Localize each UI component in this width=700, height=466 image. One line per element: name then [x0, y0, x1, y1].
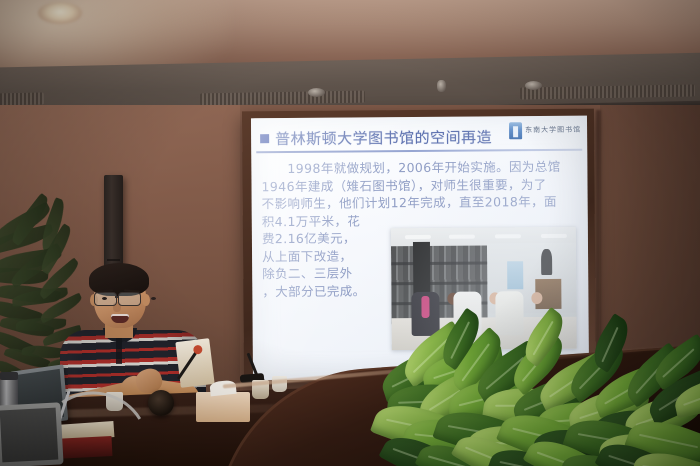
- southeast-university-library-logo: 东南大学图书馆: [509, 122, 581, 140]
- ceiling-speaker-icon: [308, 88, 325, 97]
- slide-body-line: 不影响师生，他们计划12年完成，直至2018年，面: [262, 193, 574, 213]
- library-logo-text: 东南大学图书馆: [525, 127, 581, 134]
- slide-title: 普林斯顿大学图书馆的空间再造: [275, 126, 492, 149]
- eyeglasses-icon: [94, 292, 148, 304]
- leaf-vein: [639, 434, 698, 448]
- slide-body-line: 积4.1万平米，花: [262, 212, 382, 230]
- ceiling-speaker-icon: [525, 81, 542, 90]
- photo-window: [507, 261, 523, 289]
- library-logo-mark-icon: [509, 122, 522, 139]
- coffee-cup: [148, 390, 174, 416]
- chair: [0, 402, 64, 466]
- leaf-vein: [602, 327, 619, 362]
- tissue-box: [196, 392, 250, 422]
- ceiling-sensor-icon: [437, 80, 446, 92]
- slide-body-line: 从上面下改造，: [262, 247, 382, 265]
- foreground-foliage-plant: [388, 330, 700, 466]
- hvac-vent: [0, 92, 44, 105]
- leaf-vein: [683, 389, 700, 406]
- photo-person: [495, 292, 523, 335]
- slide-body-line: 费2.16亿美元，: [262, 229, 382, 247]
- photo-sculpture: [541, 249, 552, 275]
- shirt-placket: [116, 338, 122, 364]
- leaf-vein: [450, 322, 469, 359]
- slide-body-line: ，大部分已完成。: [262, 282, 382, 300]
- slide-body-line: 除负二、三层外: [262, 264, 382, 282]
- recessed-ceiling-light: [38, 2, 82, 24]
- photo-scene: 普林斯顿大学图书馆的空间再造 东南大学图书馆 1998年就做规划，2006年开始…: [0, 0, 700, 466]
- slide-body-line: 1998年就做规划，2006年开始实施。因为总馆: [261, 158, 573, 178]
- mouth: [111, 314, 129, 323]
- square-bullet-icon: [260, 134, 269, 143]
